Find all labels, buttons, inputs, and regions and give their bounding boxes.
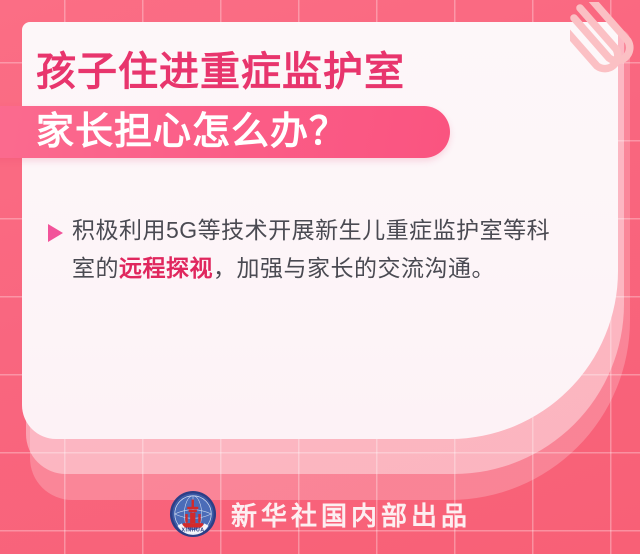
footer: XINHUA 新华社国内部出品 — [0, 490, 640, 538]
xinhua-logo-icon: XINHUA — [169, 490, 217, 538]
body-block: 积极利用5G等技术开展新生儿重症监护室等科室的远程探视，加强与家长的交流沟通。 — [48, 211, 568, 287]
body-highlight-remote-visit: 远程探视 — [119, 255, 213, 281]
xinhua-logo-wordmark: XINHUA — [181, 527, 204, 533]
title-line-2-wrapper: 家长担心怎么办？ — [0, 102, 640, 162]
footer-text: 新华社国内部出品 — [231, 496, 471, 533]
title-block: 孩子住进重症监护室 家长担心怎么办？ — [0, 48, 640, 162]
body-segment-3: ，加强与家长的交流沟通。 — [213, 255, 495, 281]
body-paragraph: 积极利用5G等技术开展新生儿重症监护室等科室的远程探视，加强与家长的交流沟通。 — [72, 211, 568, 287]
page-title-line-1: 孩子住进重症监护室 — [36, 48, 640, 96]
page-title-line-2: 家长担心怎么办？ — [36, 106, 348, 158]
poster-root: 孩子住进重症监护室 家长担心怎么办？ 积极利用5G等技术开展新生儿重症监护室等科… — [0, 0, 640, 554]
triangle-right-icon — [48, 224, 63, 242]
